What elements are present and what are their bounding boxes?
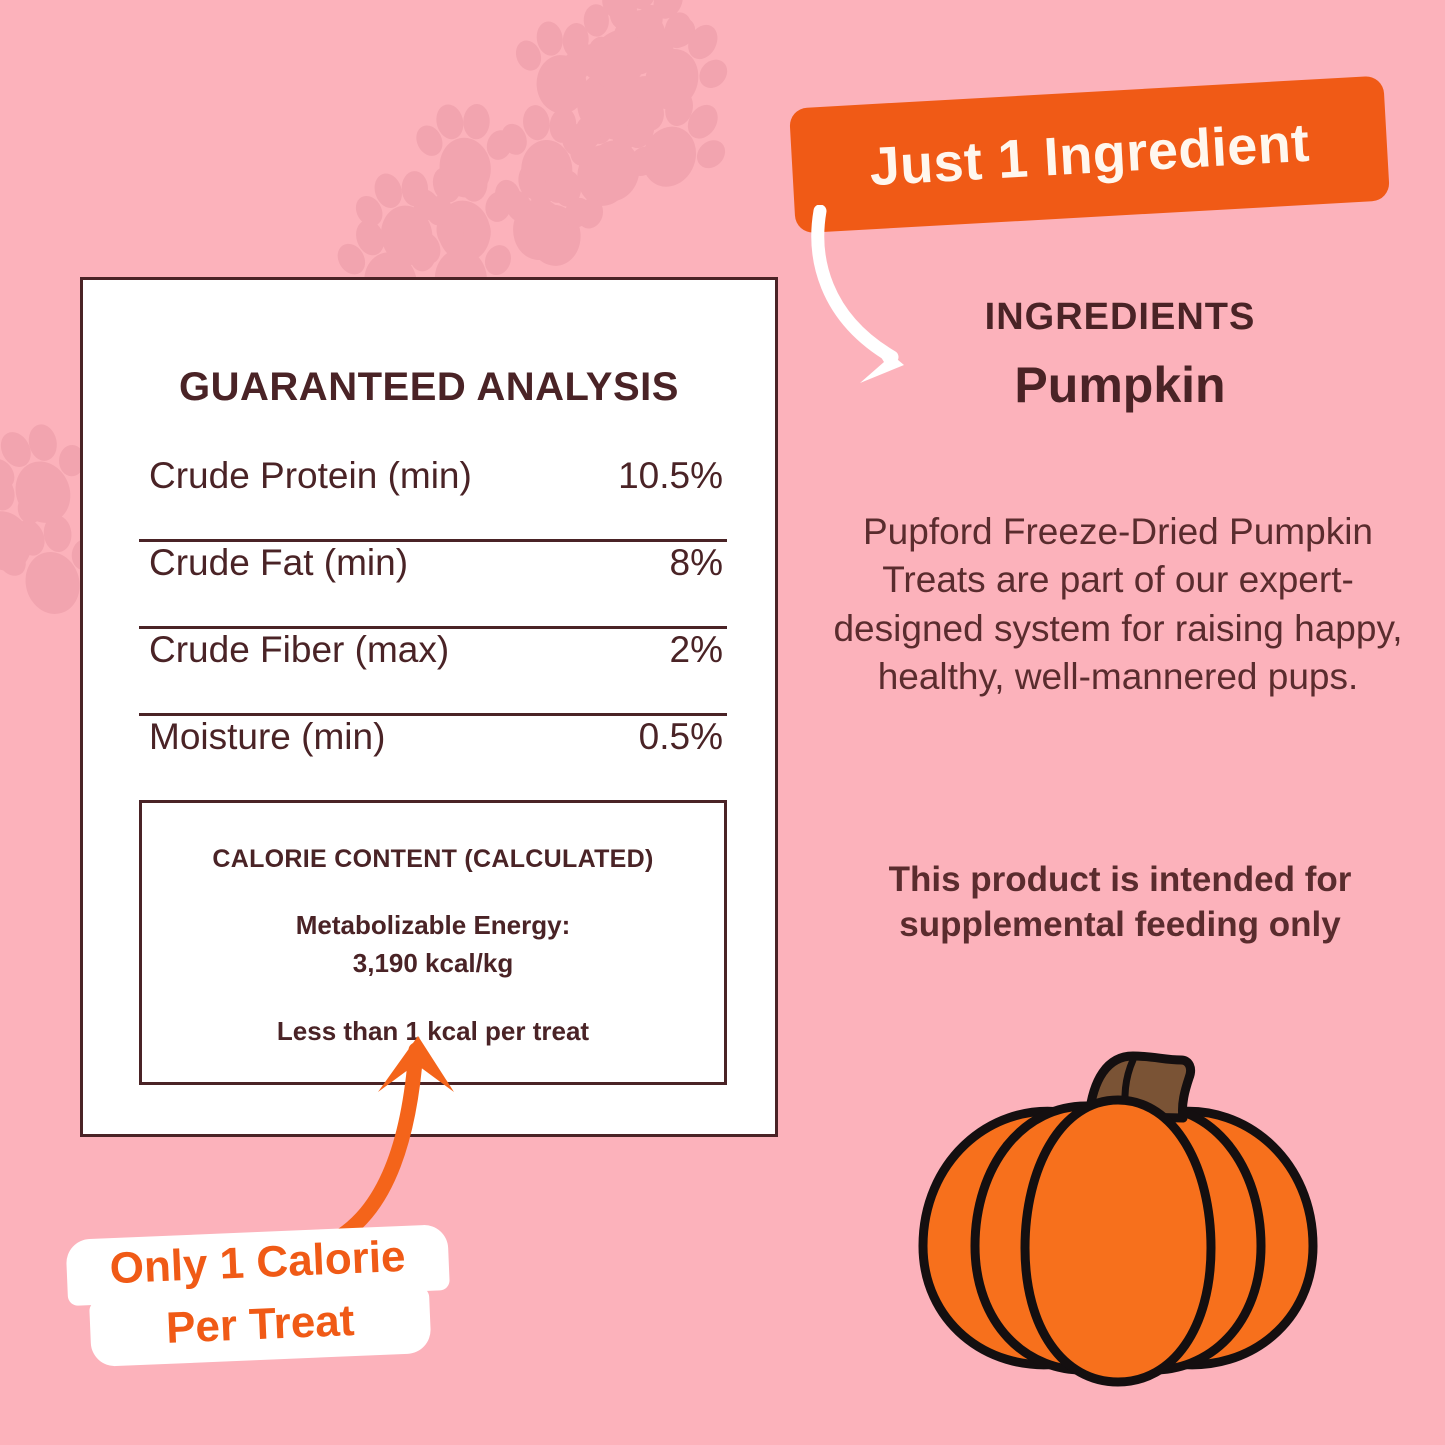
table-row: Crude Fat (min) 8% bbox=[139, 542, 727, 629]
nutrient-value: 8% bbox=[670, 542, 727, 584]
ingredients-heading: INGREDIENTS bbox=[860, 296, 1380, 339]
ribbon-label: Just 1 Ingredient bbox=[868, 111, 1311, 197]
nutrient-label: Crude Fiber (max) bbox=[139, 629, 449, 671]
nutrient-label: Moisture (min) bbox=[139, 716, 385, 758]
analysis-rows: Crude Protein (min) 10.5% Crude Fat (min… bbox=[139, 455, 727, 800]
supplemental-feeding-note: This product is intended for supplementa… bbox=[860, 857, 1380, 947]
metabolizable-energy: Metabolizable Energy: 3,190 kcal/kg bbox=[142, 907, 724, 982]
table-row: Crude Fiber (max) 2% bbox=[139, 629, 727, 716]
metabolizable-energy-label: Metabolizable Energy: bbox=[142, 907, 724, 945]
nutrient-value: 0.5% bbox=[639, 716, 727, 758]
analysis-panel-title: GUARANTEED ANALYSIS bbox=[83, 365, 775, 410]
infographic-canvas: GUARANTEED ANALYSIS Crude Protein (min) … bbox=[0, 0, 1445, 1445]
calorie-content-box: CALORIE CONTENT (CALCULATED) Metabolizab… bbox=[139, 800, 727, 1085]
metabolizable-energy-value: 3,190 kcal/kg bbox=[142, 945, 724, 983]
only-one-calorie-badge: Only 1 Calorie Per Treat bbox=[65, 1224, 452, 1368]
just-one-ingredient-ribbon: Just 1 Ingredient bbox=[789, 75, 1390, 233]
nutrient-label: Crude Fat (min) bbox=[139, 542, 408, 584]
nutrient-label: Crude Protein (min) bbox=[139, 455, 472, 497]
badge-line-2: Per Treat bbox=[89, 1287, 431, 1367]
nutrient-value: 2% bbox=[670, 629, 727, 671]
ingredients-value: Pumpkin bbox=[860, 356, 1380, 414]
product-description: Pupford Freeze-Dried Pumpkin Treats are … bbox=[818, 508, 1418, 702]
pumpkin-icon bbox=[893, 1034, 1343, 1394]
table-row: Moisture (min) 0.5% bbox=[139, 716, 727, 800]
guaranteed-analysis-panel: GUARANTEED ANALYSIS Crude Protein (min) … bbox=[80, 277, 778, 1137]
nutrient-value: 10.5% bbox=[618, 455, 727, 497]
calorie-content-heading: CALORIE CONTENT (CALCULATED) bbox=[142, 845, 724, 874]
kcal-per-treat-note: Less than 1 kcal per treat bbox=[142, 1016, 724, 1047]
table-row: Crude Protein (min) 10.5% bbox=[139, 455, 727, 542]
